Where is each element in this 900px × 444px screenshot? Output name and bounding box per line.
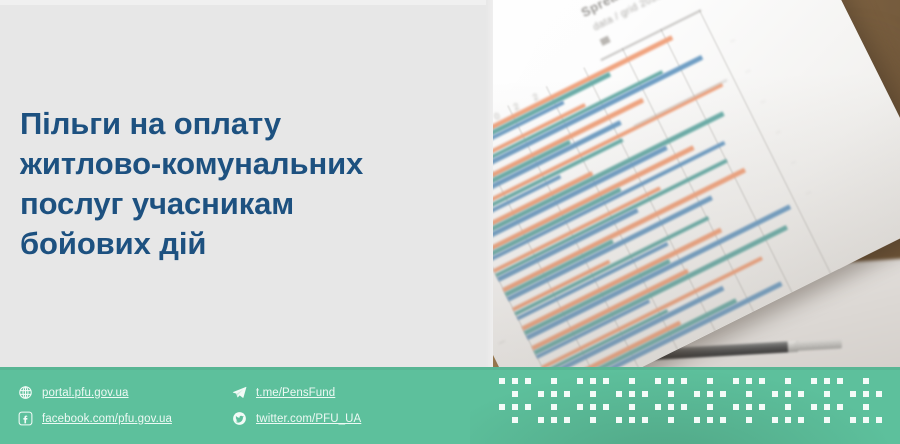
dot	[759, 404, 765, 410]
footer-link-portal-label: portal.pfu.gov.ua	[42, 387, 129, 399]
dot	[850, 417, 856, 423]
dot	[590, 378, 596, 384]
footer-link-facebook[interactable]: facebook.com/pfu.gov.ua	[18, 411, 172, 426]
dot	[577, 378, 583, 384]
dot	[668, 378, 674, 384]
dot	[655, 404, 661, 410]
dot	[785, 391, 791, 397]
footer-link-twitter[interactable]: twitter.com/PFU_UA	[232, 411, 361, 426]
dot	[681, 404, 687, 410]
dot	[720, 417, 726, 423]
page-title-line-1: Пільги на оплату	[20, 104, 450, 144]
dot	[564, 417, 570, 423]
dot	[824, 417, 830, 423]
dot	[863, 404, 869, 410]
dot	[811, 378, 817, 384]
dot	[694, 417, 700, 423]
page-title: Пільги на оплату житлово-комунальних пос…	[20, 104, 450, 264]
footer-link-telegram[interactable]: t.me/PensFund	[232, 385, 335, 400]
dot	[642, 417, 648, 423]
dot	[551, 378, 557, 384]
poster-canvas: 2 0 2 2 ————— Spreadsheet analysis data …	[0, 0, 900, 444]
dot	[863, 391, 869, 397]
dot	[525, 404, 531, 410]
dot	[785, 404, 791, 410]
dot	[811, 404, 817, 410]
dot	[551, 417, 557, 423]
dot	[668, 404, 674, 410]
dot	[746, 404, 752, 410]
dot	[590, 417, 596, 423]
dot	[681, 378, 687, 384]
dot	[538, 417, 544, 423]
dot	[499, 378, 505, 384]
panel-right-edge	[486, 0, 493, 372]
dot	[629, 378, 635, 384]
dot	[772, 391, 778, 397]
dot	[564, 391, 570, 397]
dot	[694, 391, 700, 397]
dot	[824, 404, 830, 410]
dot	[707, 391, 713, 397]
dot	[850, 391, 856, 397]
dot	[668, 391, 674, 397]
dot	[642, 391, 648, 397]
dot	[616, 417, 622, 423]
dot	[499, 404, 505, 410]
left-panel: Пільги на оплату житлово-комунальних пос…	[0, 0, 493, 372]
page-title-line-3: послуг учасникам	[20, 184, 450, 224]
panel-top-strip	[0, 0, 493, 5]
footer-link-twitter-label: twitter.com/PFU_UA	[256, 413, 361, 425]
dot	[629, 404, 635, 410]
dot	[798, 417, 804, 423]
dot	[590, 391, 596, 397]
dot	[785, 417, 791, 423]
dot	[733, 404, 739, 410]
dot	[603, 378, 609, 384]
dot	[707, 378, 713, 384]
dot	[707, 417, 713, 423]
page-title-line-2: житлово-комунальних	[20, 144, 450, 184]
dot	[876, 391, 882, 397]
dot	[876, 417, 882, 423]
dot	[525, 378, 531, 384]
dot	[577, 404, 583, 410]
dot	[616, 391, 622, 397]
globe-icon	[18, 385, 33, 400]
dot	[655, 378, 661, 384]
twitter-icon	[232, 411, 247, 426]
dot	[824, 391, 830, 397]
dot	[590, 404, 596, 410]
footer-link-telegram-label: t.me/PensFund	[256, 387, 335, 399]
dot	[629, 391, 635, 397]
dot	[551, 404, 557, 410]
footer-links: portal.pfu.gov.ua facebook.com/pfu.gov.u…	[0, 367, 470, 444]
pen-clip	[794, 339, 842, 351]
dot	[720, 391, 726, 397]
dot	[798, 391, 804, 397]
dot	[551, 391, 557, 397]
dot	[512, 391, 518, 397]
dot	[603, 404, 609, 410]
telegram-icon	[232, 385, 247, 400]
dot	[785, 378, 791, 384]
dot	[863, 417, 869, 423]
page-title-line-4: бойових дій	[20, 224, 450, 264]
decorative-dot-grid	[499, 378, 891, 434]
dot	[733, 378, 739, 384]
dot	[707, 404, 713, 410]
dot	[512, 404, 518, 410]
dot	[629, 417, 635, 423]
dot	[512, 378, 518, 384]
dot	[837, 404, 843, 410]
dot	[746, 378, 752, 384]
dot	[772, 417, 778, 423]
footer-link-portal[interactable]: portal.pfu.gov.ua	[18, 385, 129, 400]
dot	[863, 378, 869, 384]
dot	[668, 417, 674, 423]
dot	[759, 378, 765, 384]
dot	[538, 391, 544, 397]
dot	[746, 417, 752, 423]
dot	[837, 378, 843, 384]
dot	[512, 417, 518, 423]
dot	[746, 391, 752, 397]
footer-link-facebook-label: facebook.com/pfu.gov.ua	[42, 413, 172, 425]
facebook-icon	[18, 411, 33, 426]
dot	[824, 378, 830, 384]
